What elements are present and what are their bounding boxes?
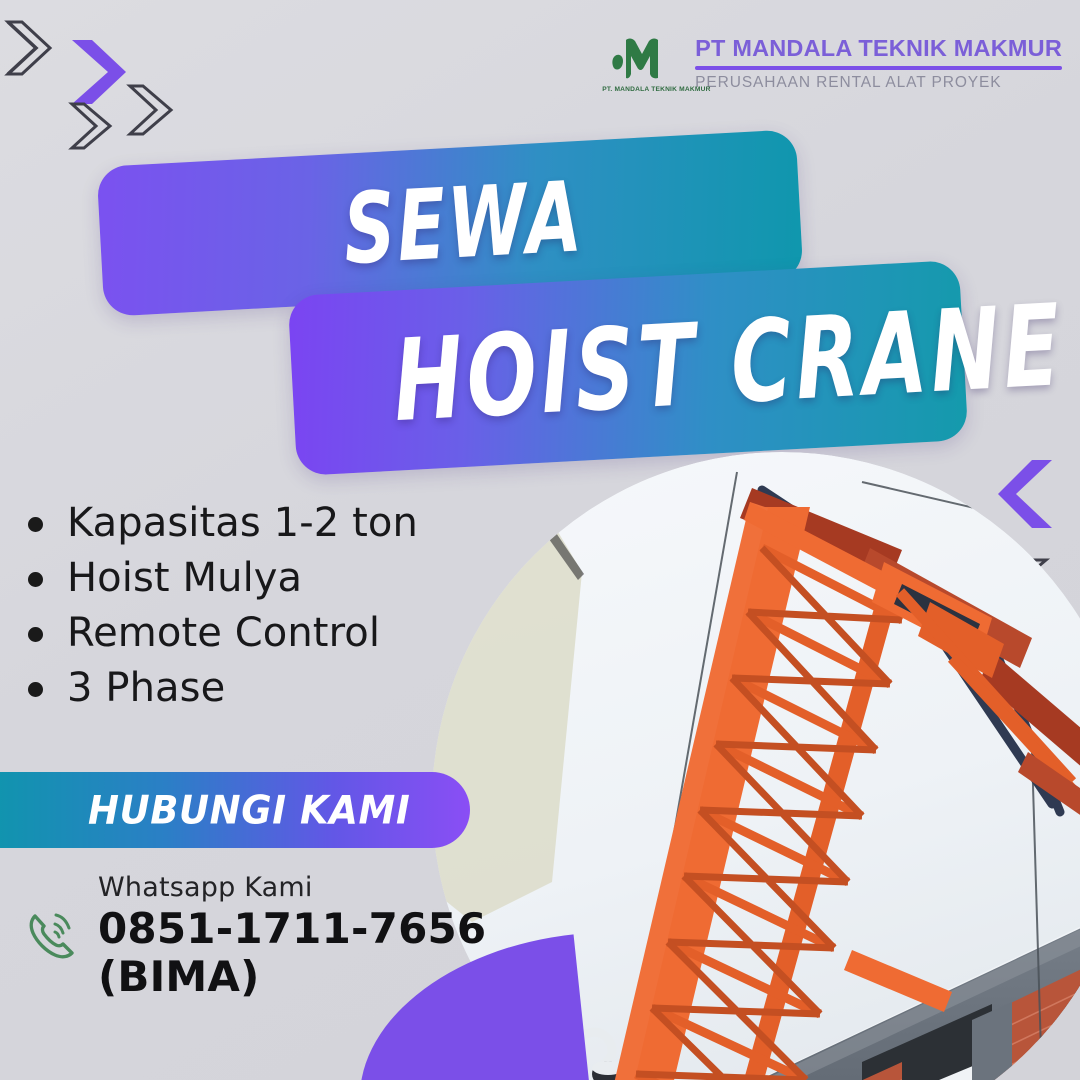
- bullet-icon: [28, 517, 43, 532]
- company-name: PT MANDALA TEKNIK MAKMUR: [695, 35, 1062, 62]
- company-logo: PT. MANDALA TEKNIK MAKMUR: [603, 34, 681, 93]
- feature-label: 3 Phase: [67, 665, 225, 711]
- company-m-logo-icon: [608, 34, 676, 84]
- feature-label: Remote Control: [67, 610, 380, 656]
- chevron-left-filled-icon: [996, 456, 1058, 532]
- contact-block: Whatsapp Kami 0851-1711-7656 (BIMA): [22, 872, 486, 1001]
- contact-us-banner[interactable]: HUBUNGI KAMI: [0, 772, 470, 848]
- contact-us-label: HUBUNGI KAMI: [88, 787, 410, 832]
- title-line-2: HOIST CRANE: [390, 279, 1067, 447]
- list-item: Hoist Mulya: [28, 555, 498, 601]
- list-item: Remote Control: [28, 610, 498, 656]
- feature-list: Kapasitas 1-2 ton Hoist Mulya Remote Con…: [28, 500, 498, 720]
- chevron-right-outline-icon: [2, 18, 60, 78]
- contact-person: (BIMA): [98, 953, 486, 1001]
- chevron-right-outline-icon: [68, 100, 116, 152]
- feature-label: Hoist Mulya: [67, 555, 302, 601]
- header-divider: [695, 66, 1062, 70]
- feature-label: Kapasitas 1-2 ton: [67, 500, 418, 546]
- list-item: Kapasitas 1-2 ton: [28, 500, 498, 546]
- bullet-icon: [28, 572, 43, 587]
- logo-caption: PT. MANDALA TEKNIK MAKMUR: [602, 86, 682, 93]
- phone-call-icon: [22, 872, 84, 1001]
- whatsapp-label: Whatsapp Kami: [98, 872, 486, 903]
- phone-number[interactable]: 0851-1711-7656: [98, 905, 486, 953]
- bullet-icon: [28, 682, 43, 697]
- chevron-right-outline-icon: [126, 82, 178, 138]
- company-tagline: PERUSAHAAN RENTAL ALAT PROYEK: [695, 74, 1062, 92]
- bullet-icon: [28, 627, 43, 642]
- chevron-right-filled-icon: [68, 36, 130, 108]
- title-banner-secondary: HOIST CRANE: [288, 260, 969, 476]
- poster-canvas: PT. MANDALA TEKNIK MAKMUR PT MANDALA TEK…: [0, 0, 1080, 1080]
- brand-header: PT. MANDALA TEKNIK MAKMUR PT MANDALA TEK…: [603, 34, 1062, 93]
- title-line-1: SEWA: [341, 159, 586, 286]
- list-item: 3 Phase: [28, 665, 498, 711]
